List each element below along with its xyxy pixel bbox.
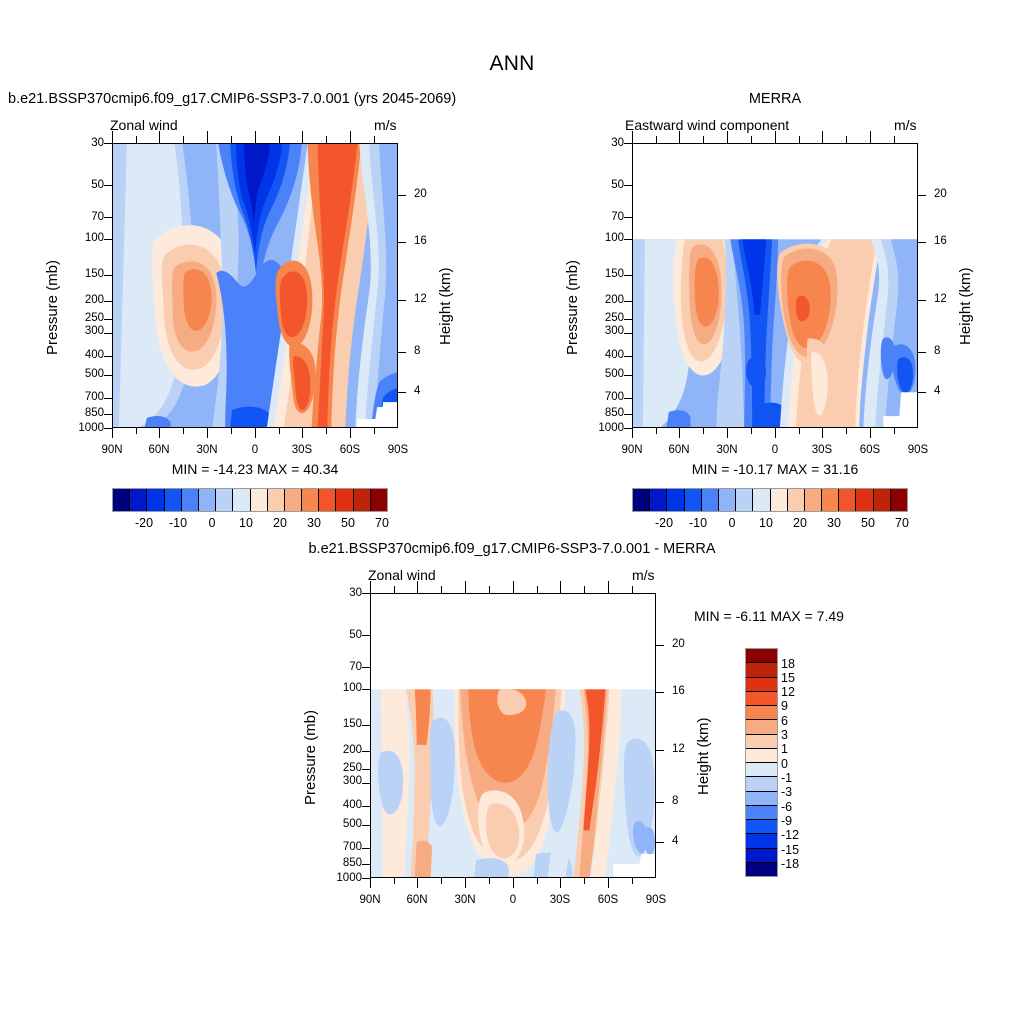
y2tick-label: 12 xyxy=(934,293,947,305)
y2tick-label: 8 xyxy=(672,795,678,807)
minmax-model: MIN = -14.23 MAX = 40.34 xyxy=(112,461,398,477)
xtick-label: 90N xyxy=(348,894,392,906)
colorbar-cell xyxy=(746,649,777,663)
ytick-label: 30 xyxy=(338,587,362,599)
panel-diff-caption: b.e21.BSSP370cmip6.f09_g17.CMIP6-SSP3-7.… xyxy=(170,541,854,557)
colorbar-tick-label: -10 xyxy=(683,516,713,530)
colorbar-cell xyxy=(650,489,667,511)
ytick-label: 100 xyxy=(596,232,624,244)
colorbar-tick-label: 10 xyxy=(751,516,781,530)
y2tick-label: 4 xyxy=(672,835,678,847)
ytick-label: 100 xyxy=(76,232,104,244)
page-title: ANN xyxy=(0,52,1024,76)
colorbar-cell xyxy=(746,749,777,763)
colorbar-tick-label: 50 xyxy=(333,516,363,530)
colorbar-cell xyxy=(746,806,777,820)
colorbar-tick-label: -9 xyxy=(781,814,792,828)
ytick-label: 1000 xyxy=(592,422,624,434)
colorbar-tick-label: -3 xyxy=(781,785,792,799)
colorbar-cell xyxy=(788,489,805,511)
minmax-obs: MIN = -10.17 MAX = 31.16 xyxy=(632,461,918,477)
colorbar-cell xyxy=(354,489,371,511)
colorbar-cell xyxy=(746,692,777,706)
panel-model-y-axis-label: Pressure (mb) xyxy=(44,260,61,355)
colorbar-cell xyxy=(371,489,387,511)
panel-obs-subtitle: Eastward wind component xyxy=(625,117,789,133)
contour-field-diff xyxy=(371,594,655,877)
xtick-label: 0 xyxy=(753,444,797,456)
colorbar-tick-label: 30 xyxy=(819,516,849,530)
contour-field-obs xyxy=(633,144,917,427)
colorbar-cell xyxy=(147,489,164,511)
colorbar-cell xyxy=(702,489,719,511)
plot-area-obs[interactable] xyxy=(632,143,918,428)
colorbar-cell xyxy=(746,834,777,848)
ytick-label: 250 xyxy=(334,762,362,774)
xtick-label: 30N xyxy=(185,444,229,456)
xtick-label: 60N xyxy=(657,444,701,456)
colorbar-obs[interactable] xyxy=(632,488,908,512)
ytick-label: 250 xyxy=(596,312,624,324)
xtick-label: 30N xyxy=(705,444,749,456)
ytick-label: 1000 xyxy=(330,872,362,884)
colorbar-cell xyxy=(182,489,199,511)
colorbar-cell xyxy=(736,489,753,511)
ytick-label: 200 xyxy=(596,294,624,306)
ytick-label: 70 xyxy=(80,211,104,223)
colorbar-cell xyxy=(268,489,285,511)
xtick-label: 60N xyxy=(395,894,439,906)
ytick-label: 150 xyxy=(596,268,624,280)
ytick-label: 300 xyxy=(76,325,104,337)
colorbar-tick-label: 0 xyxy=(717,516,747,530)
colorbar-tick-label: 9 xyxy=(781,699,788,713)
colorbar-tick-label: 20 xyxy=(265,516,295,530)
colorbar-cell xyxy=(746,763,777,777)
xtick-label: 60S xyxy=(586,894,630,906)
colorbar-cell xyxy=(130,489,147,511)
xtick-label: 30S xyxy=(800,444,844,456)
colorbar-cell xyxy=(839,489,856,511)
colorbar-tick-label: 1 xyxy=(781,742,788,756)
colorbar-tick-label: 10 xyxy=(231,516,261,530)
colorbar-tick-label: 70 xyxy=(367,516,397,530)
y2tick-label: 12 xyxy=(414,293,427,305)
colorbar-tick-label: 15 xyxy=(781,671,795,685)
y2tick-label: 20 xyxy=(934,188,947,200)
ytick-label: 30 xyxy=(600,137,624,149)
contour-field-model xyxy=(113,144,397,427)
xtick-label: 90N xyxy=(90,444,134,456)
colorbar-cell xyxy=(746,863,777,876)
colorbar-cell xyxy=(746,735,777,749)
xtick-label: 90S xyxy=(376,444,420,456)
colorbar-cell xyxy=(216,489,233,511)
colorbar-cell xyxy=(113,489,130,511)
colorbar-cell xyxy=(874,489,891,511)
colorbar-cell xyxy=(746,792,777,806)
panel-obs-caption: MERRA xyxy=(632,91,918,107)
panel-diff-units: m/s xyxy=(632,567,655,583)
ytick-label: 150 xyxy=(76,268,104,280)
panel-obs-y-axis-label: Pressure (mb) xyxy=(564,260,581,355)
xtick-label: 30S xyxy=(538,894,582,906)
panel-diff-subtitle: Zonal wind xyxy=(368,567,436,583)
panel-obs-units: m/s xyxy=(894,117,917,133)
panel-model-subtitle: Zonal wind xyxy=(110,117,178,133)
colorbar-cell xyxy=(667,489,684,511)
colorbar-cell xyxy=(822,489,839,511)
colorbar-cell xyxy=(746,820,777,834)
ytick-label: 300 xyxy=(596,325,624,337)
panel-model-y2-axis-label: Height (km) xyxy=(437,267,454,345)
ytick-label: 300 xyxy=(334,775,362,787)
colorbar-tick-label: 0 xyxy=(197,516,227,530)
y2tick-label: 4 xyxy=(414,385,420,397)
colorbar-cell xyxy=(753,489,770,511)
xtick-label: 60S xyxy=(848,444,892,456)
y2tick-label: 16 xyxy=(672,685,685,697)
ytick-label: 850 xyxy=(596,407,624,419)
y2tick-label: 8 xyxy=(934,345,940,357)
colorbar-cell xyxy=(746,678,777,692)
colorbar-tick-label: -20 xyxy=(649,516,679,530)
colorbar-cell xyxy=(746,706,777,720)
ytick-label: 100 xyxy=(334,682,362,694)
panel-diff-y-axis-label: Pressure (mb) xyxy=(302,710,319,805)
colorbar-tick-label: 70 xyxy=(887,516,917,530)
ytick-label: 400 xyxy=(76,349,104,361)
ytick-label: 50 xyxy=(338,629,362,641)
colorbar-cell xyxy=(165,489,182,511)
colorbar-cell xyxy=(805,489,822,511)
xtick-label: 30N xyxy=(443,894,487,906)
colorbar-tick-label: 30 xyxy=(299,516,329,530)
ytick-label: 30 xyxy=(80,137,104,149)
ytick-label: 400 xyxy=(334,799,362,811)
xtick-label: 0 xyxy=(233,444,277,456)
y2tick-label: 12 xyxy=(672,743,685,755)
ytick-label: 150 xyxy=(334,718,362,730)
y2tick-label: 8 xyxy=(414,345,420,357)
colorbar-cell xyxy=(285,489,302,511)
colorbar-cell xyxy=(319,489,336,511)
y2tick-label: 16 xyxy=(414,235,427,247)
panel-obs-y2-axis-label: Height (km) xyxy=(957,267,974,345)
colorbar-tick-label: 12 xyxy=(781,685,795,699)
colorbar-tick-label: 3 xyxy=(781,728,788,742)
colorbar-cell xyxy=(302,489,319,511)
ytick-label: 50 xyxy=(600,179,624,191)
colorbar-tick-label: -1 xyxy=(781,771,792,785)
ytick-label: 700 xyxy=(76,391,104,403)
colorbar-cell xyxy=(633,489,650,511)
xtick-label: 0 xyxy=(491,894,535,906)
colorbar-cell xyxy=(771,489,788,511)
colorbar-cell xyxy=(719,489,736,511)
colorbar-tick-label: -6 xyxy=(781,800,792,814)
xtick-label: 30S xyxy=(280,444,324,456)
ytick-label: 50 xyxy=(80,179,104,191)
colorbar-cell xyxy=(685,489,702,511)
ytick-label: 200 xyxy=(76,294,104,306)
xtick-label: 90S xyxy=(634,894,678,906)
ytick-label: 70 xyxy=(600,211,624,223)
ytick-label: 700 xyxy=(334,841,362,853)
ytick-label: 500 xyxy=(596,368,624,380)
xtick-label: 60S xyxy=(328,444,372,456)
panel-model-caption: b.e21.BSSP370cmip6.f09_g17.CMIP6-SSP3-7.… xyxy=(8,91,456,107)
colorbar-tick-label: 6 xyxy=(781,714,788,728)
ytick-label: 700 xyxy=(596,391,624,403)
y2tick-label: 4 xyxy=(934,385,940,397)
minmax-diff: MIN = -6.11 MAX = 7.49 xyxy=(694,608,844,624)
ytick-label: 500 xyxy=(334,818,362,830)
y2tick-label: 20 xyxy=(672,638,685,650)
colorbar-tick-label: 20 xyxy=(785,516,815,530)
ytick-label: 200 xyxy=(334,744,362,756)
panel-diff-y2-axis-label: Height (km) xyxy=(695,717,712,795)
colorbar-cell xyxy=(746,777,777,791)
colorbar-tick-label: 18 xyxy=(781,657,795,671)
ytick-label: 70 xyxy=(338,661,362,673)
y2tick-label: 16 xyxy=(934,235,947,247)
ytick-label: 250 xyxy=(76,312,104,324)
colorbar-cell xyxy=(746,849,777,863)
ytick-label: 850 xyxy=(76,407,104,419)
colorbar-tick-label: 0 xyxy=(781,757,788,771)
colorbar-cell xyxy=(891,489,907,511)
y2tick-label: 20 xyxy=(414,188,427,200)
xtick-label: 90N xyxy=(610,444,654,456)
colorbar-tick-label: -10 xyxy=(163,516,193,530)
colorbar-cell xyxy=(251,489,268,511)
colorbar-tick-label: -18 xyxy=(781,857,799,871)
colorbar-cell xyxy=(233,489,250,511)
colorbar-cell xyxy=(856,489,873,511)
colorbar-cell xyxy=(336,489,353,511)
colorbar-model[interactable] xyxy=(112,488,388,512)
xtick-label: 60N xyxy=(137,444,181,456)
xtick-label: 90S xyxy=(896,444,940,456)
colorbar-tick-label: 50 xyxy=(853,516,883,530)
colorbar-tick-label: -12 xyxy=(781,828,799,842)
colorbar-cell xyxy=(199,489,216,511)
colorbar-diff[interactable] xyxy=(745,648,778,877)
panel-model-units: m/s xyxy=(374,117,397,133)
plot-area-model[interactable] xyxy=(112,143,398,428)
ytick-label: 850 xyxy=(334,857,362,869)
ytick-label: 500 xyxy=(76,368,104,380)
ytick-label: 400 xyxy=(596,349,624,361)
colorbar-cell xyxy=(746,720,777,734)
plot-area-diff[interactable] xyxy=(370,593,656,878)
colorbar-tick-label: -20 xyxy=(129,516,159,530)
ytick-label: 1000 xyxy=(72,422,104,434)
colorbar-tick-label: -15 xyxy=(781,843,799,857)
colorbar-cell xyxy=(746,663,777,677)
